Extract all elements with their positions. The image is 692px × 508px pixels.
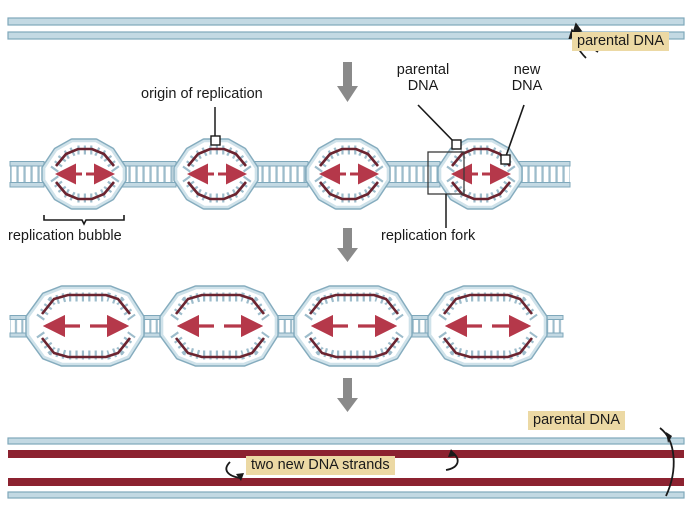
daughter2-new-strand bbox=[8, 478, 684, 486]
new-dna-leader-line bbox=[506, 105, 524, 156]
replication-bubble-1 bbox=[44, 141, 124, 207]
stage-2-replication-bubbles bbox=[10, 105, 570, 228]
label-two-new-dna-strands: two new DNA strands bbox=[246, 457, 395, 473]
label-new-dna-callout: new DNA bbox=[497, 62, 557, 94]
replication-bubble-2 bbox=[176, 136, 256, 207]
label-replication-fork: replication fork bbox=[381, 228, 475, 244]
replication-bubble-brace-icon bbox=[44, 215, 124, 224]
new-dna-marker-icon bbox=[501, 155, 510, 164]
enlarged-bubble-1 bbox=[28, 288, 142, 364]
stage-arrow-3 bbox=[337, 378, 358, 412]
label-parental-dna-top: parental DNA bbox=[572, 33, 669, 49]
replication-bubble-3 bbox=[308, 141, 388, 207]
origin-marker-icon bbox=[211, 136, 220, 145]
daughter2-parental-strand bbox=[8, 492, 684, 498]
daughter1-parental-strand bbox=[8, 438, 684, 444]
parental-dna-marker-icon bbox=[452, 140, 461, 149]
enlarged-bubble-3 bbox=[296, 288, 410, 364]
label-parental-dna-bottom: parental DNA bbox=[528, 412, 625, 428]
enlarged-bubble-4 bbox=[430, 288, 545, 364]
stage-3-enlarged-bubbles bbox=[10, 288, 563, 364]
stage-arrow-2 bbox=[337, 228, 358, 262]
label-parental-dna-callout: parental DNA bbox=[381, 62, 465, 94]
figure-canvas: parental DNA origin of replication paren… bbox=[0, 0, 692, 508]
stage-arrow-1 bbox=[337, 62, 358, 102]
label-replication-bubble: replication bubble bbox=[8, 228, 122, 244]
label-origin-of-replication: origin of replication bbox=[141, 86, 263, 102]
enlarged-bubble-2 bbox=[162, 288, 276, 364]
parental-dna-leader-line bbox=[418, 105, 456, 144]
dna-replication-diagram bbox=[0, 0, 692, 508]
